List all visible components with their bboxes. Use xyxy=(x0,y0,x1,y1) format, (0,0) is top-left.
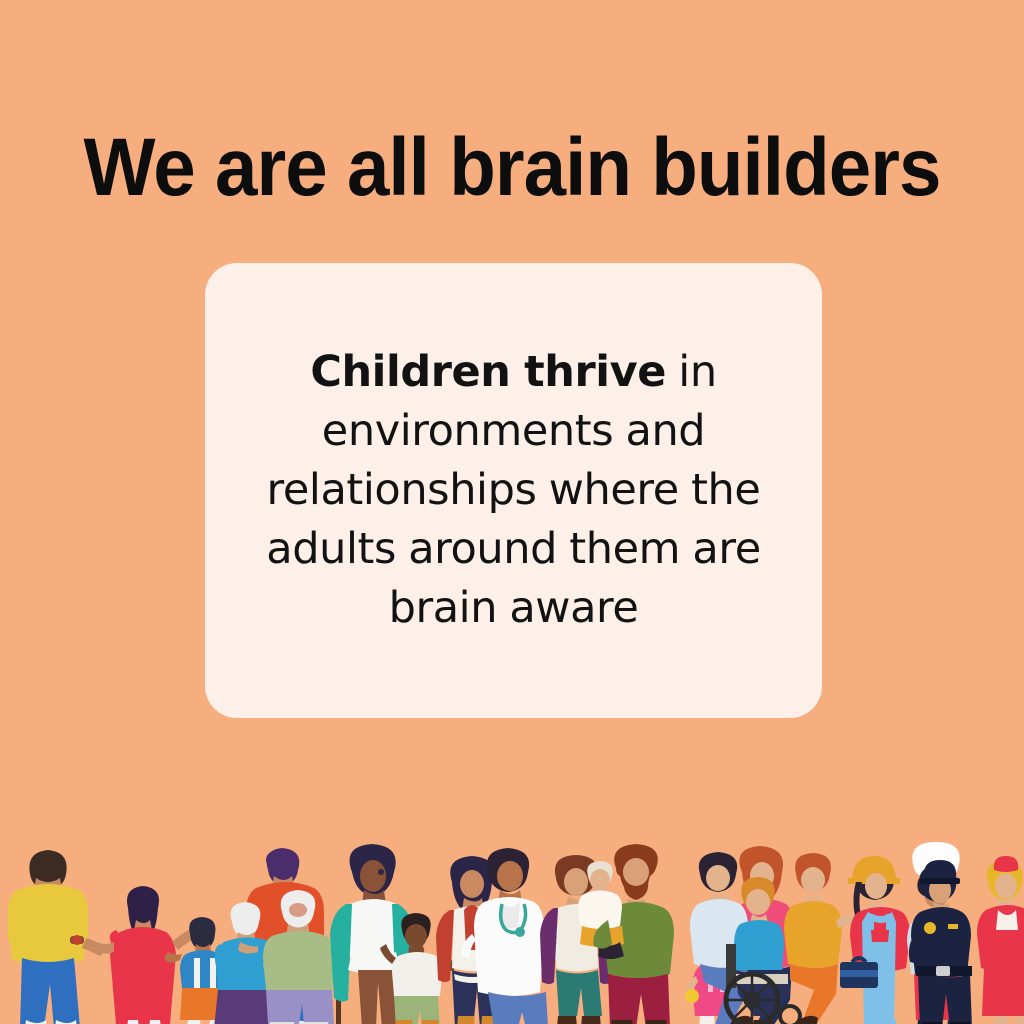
page-title: We are all brain builders xyxy=(36,127,988,209)
attendant-hat xyxy=(994,856,1019,872)
police-cap xyxy=(924,860,956,881)
figure-flight-attendant xyxy=(977,856,1024,1024)
quote-text: Children thrive in environments and rela… xyxy=(249,343,779,638)
quote-card: Children thrive in environments and rela… xyxy=(205,263,822,718)
quote-lead: Children thrive xyxy=(310,347,666,397)
figure-man-yellow-shirt xyxy=(8,850,106,1024)
toy xyxy=(685,989,699,1003)
police-badge xyxy=(924,922,936,934)
crowd-illustration xyxy=(0,824,1024,1024)
crowd-illustration-svg xyxy=(0,824,1024,1024)
figure-construction-worker xyxy=(840,856,910,1024)
poster-canvas: We are all brain builders Children thriv… xyxy=(0,0,1024,1024)
